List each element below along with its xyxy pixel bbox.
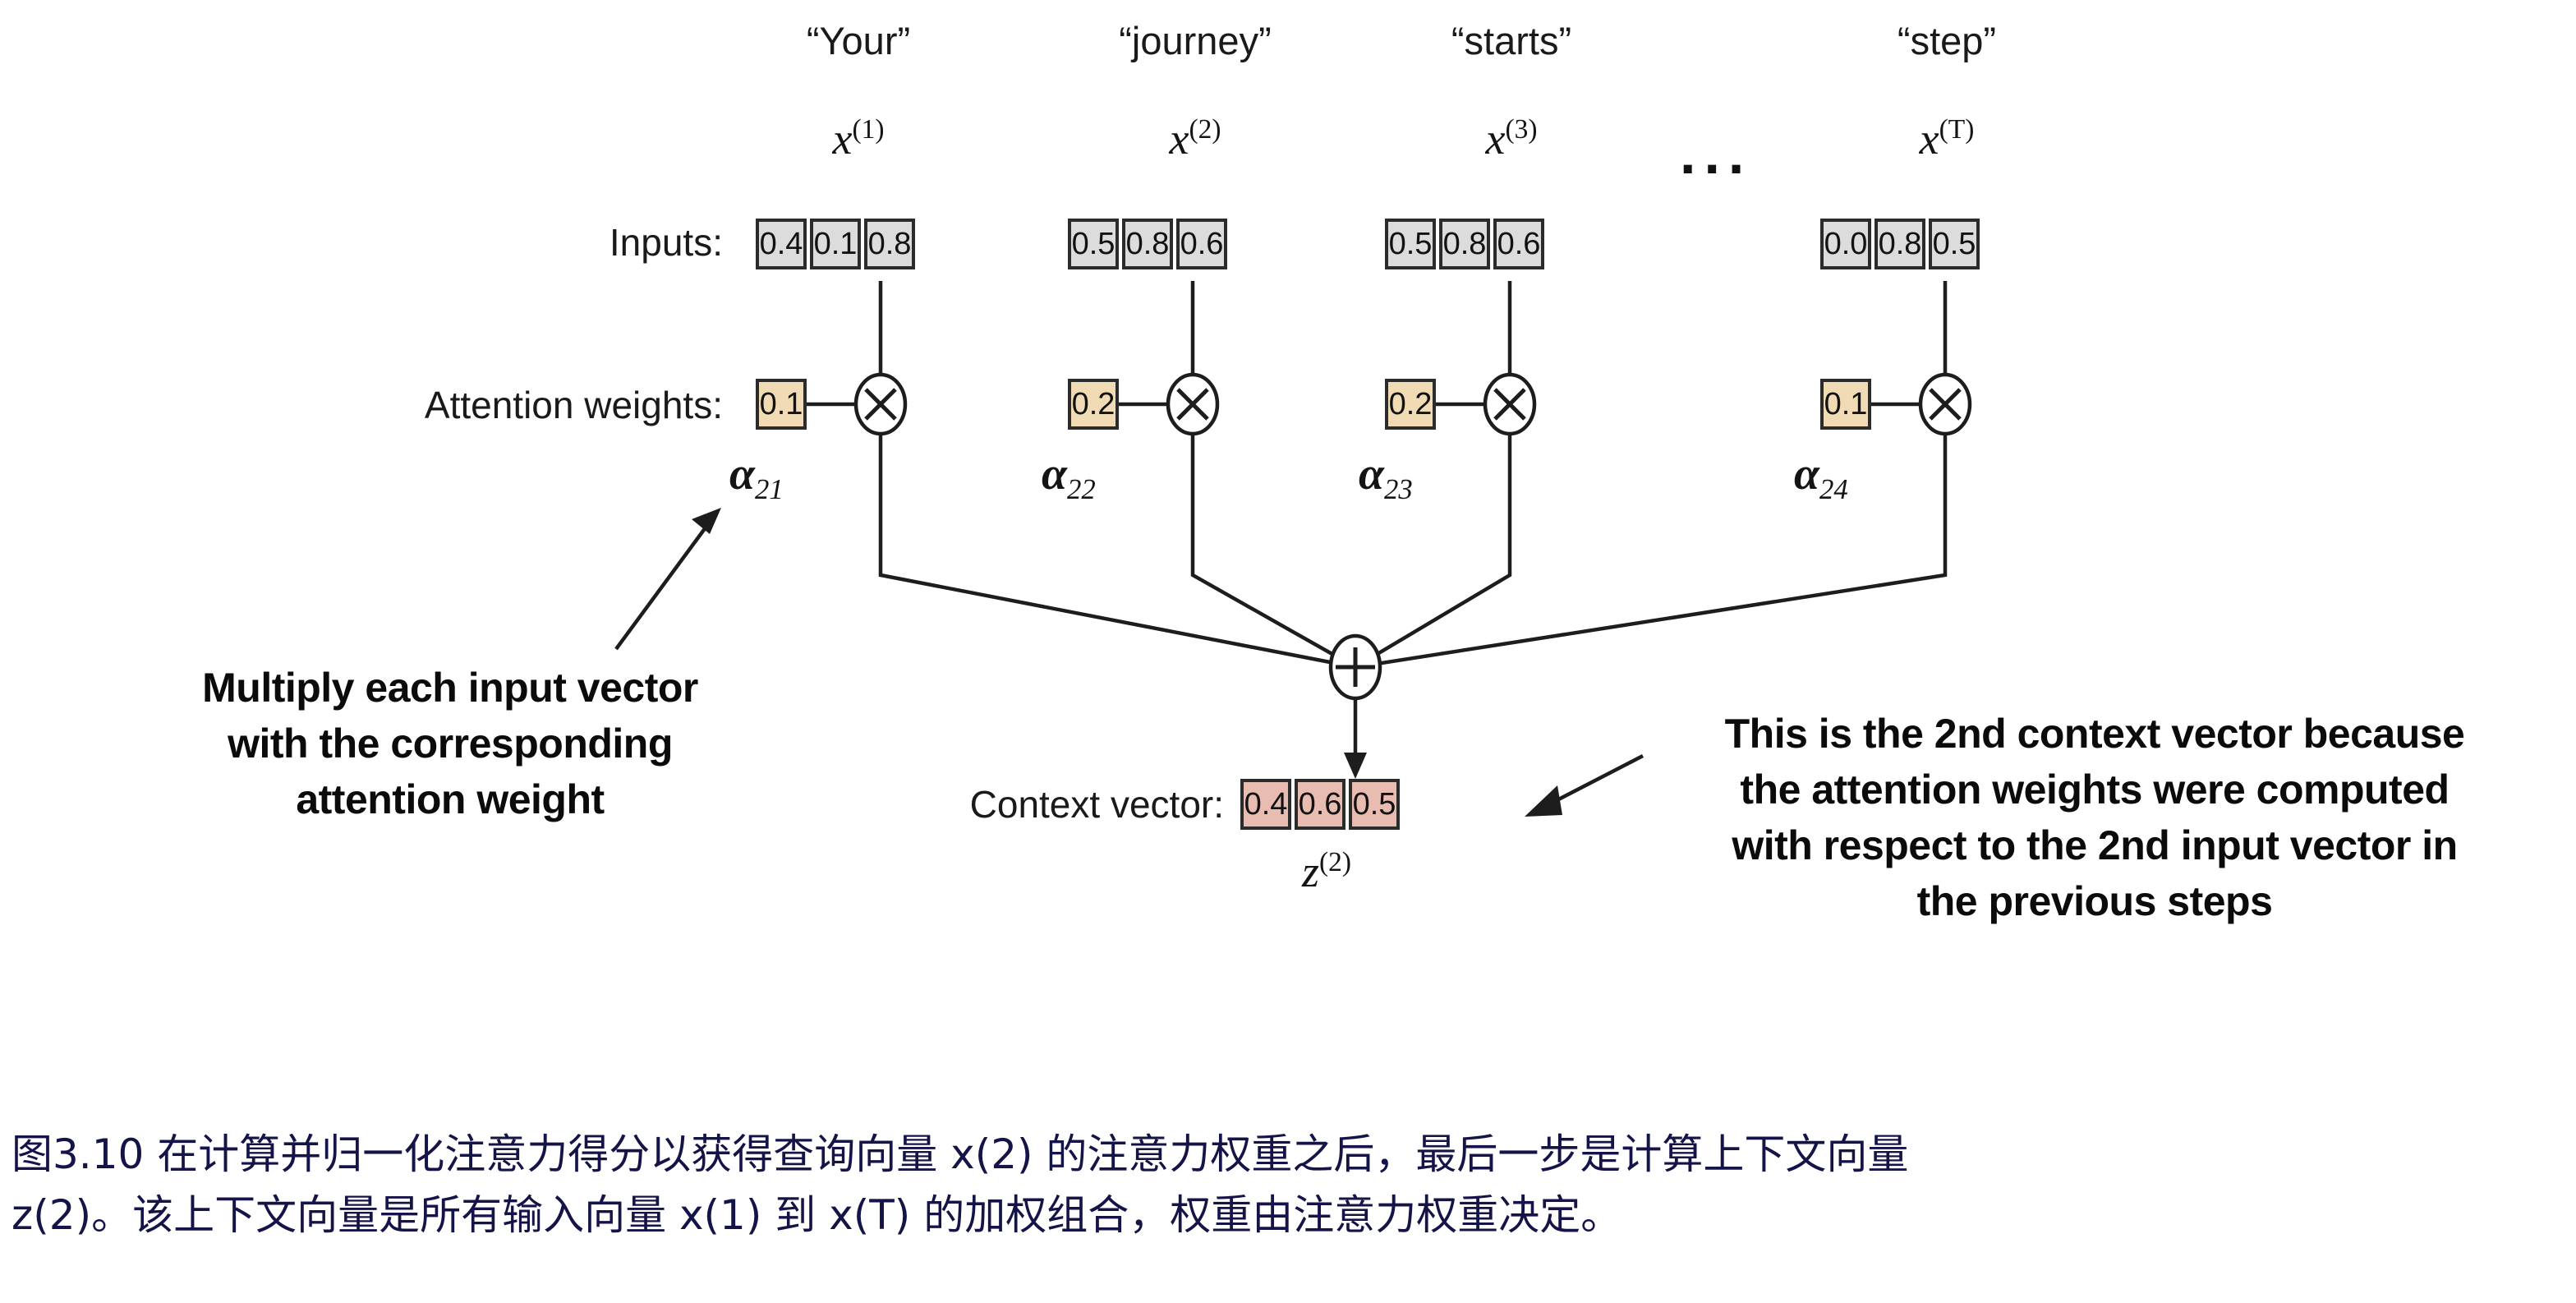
input-cell: 0.1 xyxy=(810,219,861,269)
alpha-subscript: 21 xyxy=(755,473,784,505)
caption-line-1: 图3.10 在计算并归一化注意力得分以获得查询向量 x(2) 的注意力权重之后，… xyxy=(11,1124,2566,1185)
annotation-right: This is the 2nd context vector because t… xyxy=(1635,713,2555,937)
input-cell: 0.6 xyxy=(1176,219,1227,269)
symbol-superscript: (2) xyxy=(1189,114,1221,145)
attention-weight-box-2: 0.2 xyxy=(1068,379,1119,430)
attention-weight-box-1: 0.1 xyxy=(756,379,807,430)
input-cell: 0.0 xyxy=(1820,219,1871,269)
context-cell: 0.4 xyxy=(1240,779,1291,830)
token-symbol-2: x(2) xyxy=(1068,113,1322,164)
symbol-superscript: (2) xyxy=(1319,847,1351,877)
connector-lines xyxy=(0,0,2576,1303)
input-cell: 0.5 xyxy=(1385,219,1436,269)
inputs-row-label: Inputs: xyxy=(329,220,723,265)
alpha-subscript: 23 xyxy=(1384,473,1413,505)
annotation-left-line-3: attention weight xyxy=(138,779,762,820)
symbol-base: x xyxy=(833,114,853,163)
input-vector-4: 0.0 0.8 0.5 xyxy=(1820,219,1980,269)
symbol-base: x xyxy=(1170,114,1189,163)
alpha-subscript: 24 xyxy=(1819,473,1848,505)
token-word-2: “journey” xyxy=(1068,18,1322,63)
token-symbol-3: x(3) xyxy=(1396,113,1626,164)
alpha-glyph: α xyxy=(1359,449,1384,500)
symbol-superscript: (1) xyxy=(852,114,884,145)
ellipsis-dots: ... xyxy=(1680,125,1752,182)
symbol-base: x xyxy=(1486,114,1506,163)
alpha-label-4: α24 xyxy=(1794,448,1848,506)
token-word-1: “Your” xyxy=(764,18,953,63)
alpha-label-1: α21 xyxy=(729,448,784,506)
input-cell: 0.4 xyxy=(756,219,807,269)
attention-weight-box-4: 0.1 xyxy=(1820,379,1871,430)
input-vector-2: 0.5 0.8 0.6 xyxy=(1068,219,1227,269)
context-vector-symbol: z(2) xyxy=(1240,846,1413,897)
alpha-label-3: α23 xyxy=(1359,448,1413,506)
input-cell: 0.8 xyxy=(1439,219,1490,269)
input-cell: 0.5 xyxy=(1068,219,1119,269)
input-cell: 0.8 xyxy=(1874,219,1925,269)
input-cell: 0.8 xyxy=(864,219,915,269)
annotation-left: Multiply each input vector with the corr… xyxy=(138,667,762,835)
figure-caption: 图3.10 在计算并归一化注意力得分以获得查询向量 x(2) 的注意力权重之后，… xyxy=(11,1124,2566,1245)
input-cell: 0.5 xyxy=(1929,219,1980,269)
annotation-right-line-3: with respect to the 2nd input vector in xyxy=(1635,825,2555,866)
token-symbol-4: x(T) xyxy=(1848,113,2045,164)
input-vector-1: 0.4 0.1 0.8 xyxy=(756,219,915,269)
context-cell: 0.5 xyxy=(1349,779,1400,830)
input-vector-3: 0.5 0.8 0.6 xyxy=(1385,219,1544,269)
alpha-subscript: 22 xyxy=(1067,473,1096,505)
symbol-superscript: (3) xyxy=(1505,114,1537,145)
alpha-label-2: α22 xyxy=(1042,448,1096,506)
input-cell: 0.8 xyxy=(1122,219,1173,269)
annotation-left-line-2: with the corresponding xyxy=(138,723,762,764)
figure-canvas: “Your” “journey” “starts” “step” x(1) x(… xyxy=(0,0,2576,1303)
alpha-glyph: α xyxy=(729,449,755,500)
context-vector-cells: 0.4 0.6 0.5 xyxy=(1240,779,1400,830)
symbol-superscript: (T) xyxy=(1939,114,1975,145)
input-cell: 0.6 xyxy=(1493,219,1544,269)
context-cell: 0.6 xyxy=(1295,779,1345,830)
alpha-glyph: α xyxy=(1794,449,1819,500)
annotation-right-line-2: the attention weights were computed xyxy=(1635,769,2555,810)
alpha-glyph: α xyxy=(1042,449,1067,500)
annotation-right-line-1: This is the 2nd context vector because xyxy=(1635,713,2555,754)
annotation-right-line-4: the previous steps xyxy=(1635,881,2555,922)
caption-line-2: z(2)。该上下文向量是所有输入向量 x(1) 到 x(T) 的加权组合，权重由… xyxy=(11,1185,2566,1245)
symbol-base: x xyxy=(1920,114,1939,163)
attention-weight-box-3: 0.2 xyxy=(1385,379,1436,430)
symbol-base: z xyxy=(1302,847,1319,896)
attention-weights-row-label: Attention weights: xyxy=(214,383,723,427)
token-word-4: “step” xyxy=(1848,18,2045,63)
context-vector-row-label: Context vector: xyxy=(846,782,1224,826)
annotation-left-line-1: Multiply each input vector xyxy=(138,667,762,708)
token-word-3: “starts” xyxy=(1396,18,1626,63)
token-symbol-1: x(1) xyxy=(764,113,953,164)
